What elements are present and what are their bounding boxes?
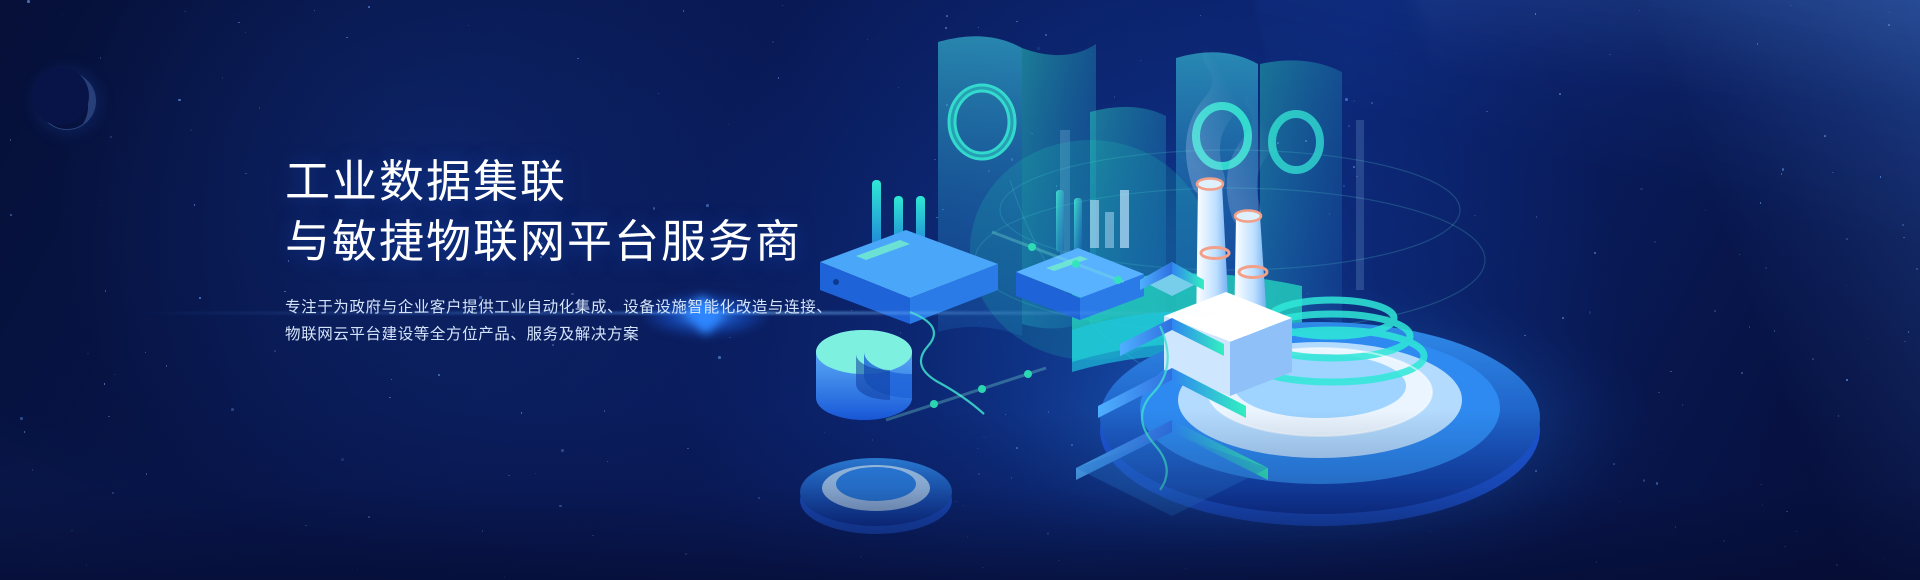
light-beam-bottom-left [0,340,640,580]
crescent-moon-icon [38,72,96,130]
page-title: 工业数据集联 与敏捷物联网平台服务商 [285,152,925,272]
subtitle-line-1: 专注于为政府与企业客户提供工业自动化集成、设备设施智能化改造与连接、 [285,299,832,316]
hero-banner: 工业数据集联 与敏捷物联网平台服务商 专注于为政府与企业客户提供工业自动化集成、… [0,0,1920,580]
isometric-illustration [760,0,1920,580]
ring-platform [800,458,952,534]
hero-copy: 工业数据集联 与敏捷物联网平台服务商 专注于为政府与企业客户提供工业自动化集成、… [285,152,925,348]
headline-line-1: 工业数据集联 [285,156,567,207]
hero-subtitle: 专注于为政府与企业客户提供工业自动化集成、设备设施智能化改造与连接、 物联网云平… [285,294,925,348]
headline-line-2: 与敏捷物联网平台服务商 [285,216,802,267]
subtitle-line-2: 物联网云平台建设等全方位产品、服务及解决方案 [285,326,639,343]
